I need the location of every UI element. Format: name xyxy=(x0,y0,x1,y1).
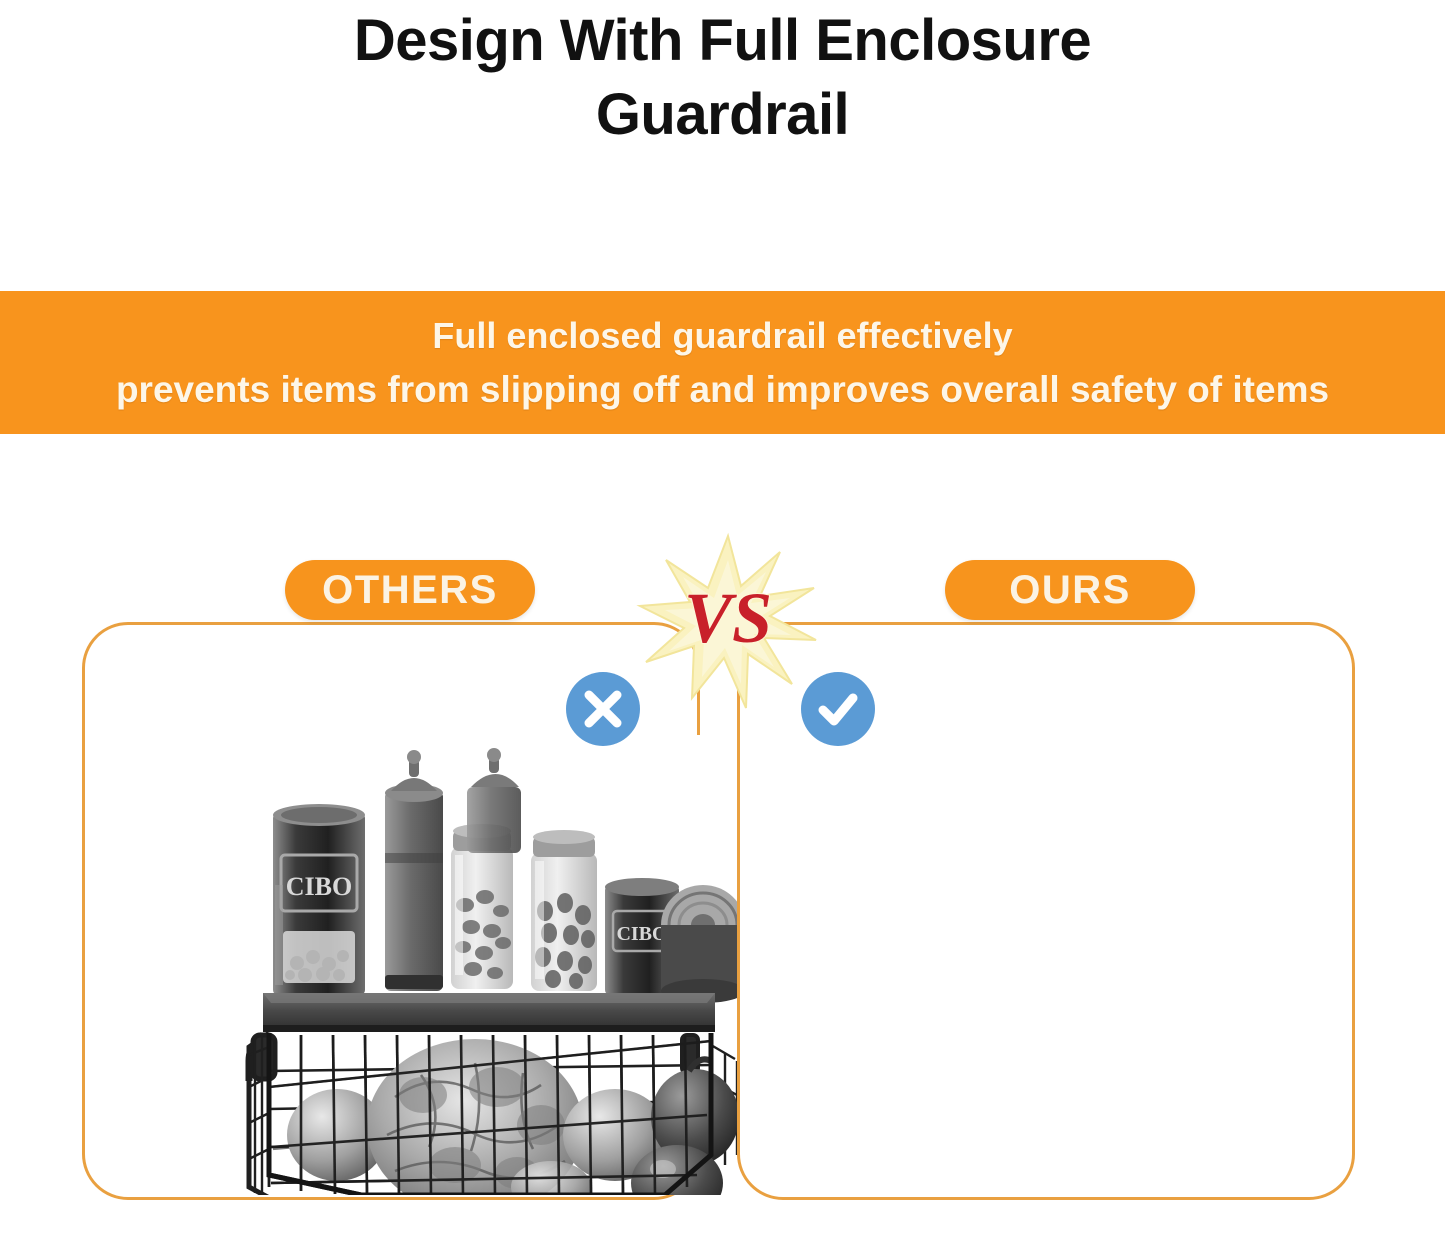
label-pill-others: OTHERS xyxy=(285,560,535,620)
feature-banner: Full enclosed guardrail effectively prev… xyxy=(0,291,1445,434)
page-title-line-2: Guardrail xyxy=(0,78,1445,152)
label-pill-ours-text: OURS xyxy=(1009,570,1131,610)
comparison-section: CIBO xyxy=(0,560,1445,1240)
page-title-line-1: Design With Full Enclosure xyxy=(0,4,1445,78)
vs-badge: VS xyxy=(628,530,828,710)
svg-text:CIBO: CIBO xyxy=(616,923,667,945)
feature-banner-line-1: Full enclosed guardrail effectively xyxy=(432,309,1012,363)
vs-label: VS xyxy=(684,578,772,658)
label-pill-ours: OURS xyxy=(945,560,1195,620)
label-pill-others-text: OTHERS xyxy=(322,570,498,610)
svg-text:CIBO: CIBO xyxy=(286,872,352,901)
page-title: Design With Full Enclosure Guardrail xyxy=(0,0,1445,152)
others-product-photo: CIBO xyxy=(245,735,745,1195)
feature-banner-line-2: prevents items from slipping off and imp… xyxy=(116,363,1329,417)
